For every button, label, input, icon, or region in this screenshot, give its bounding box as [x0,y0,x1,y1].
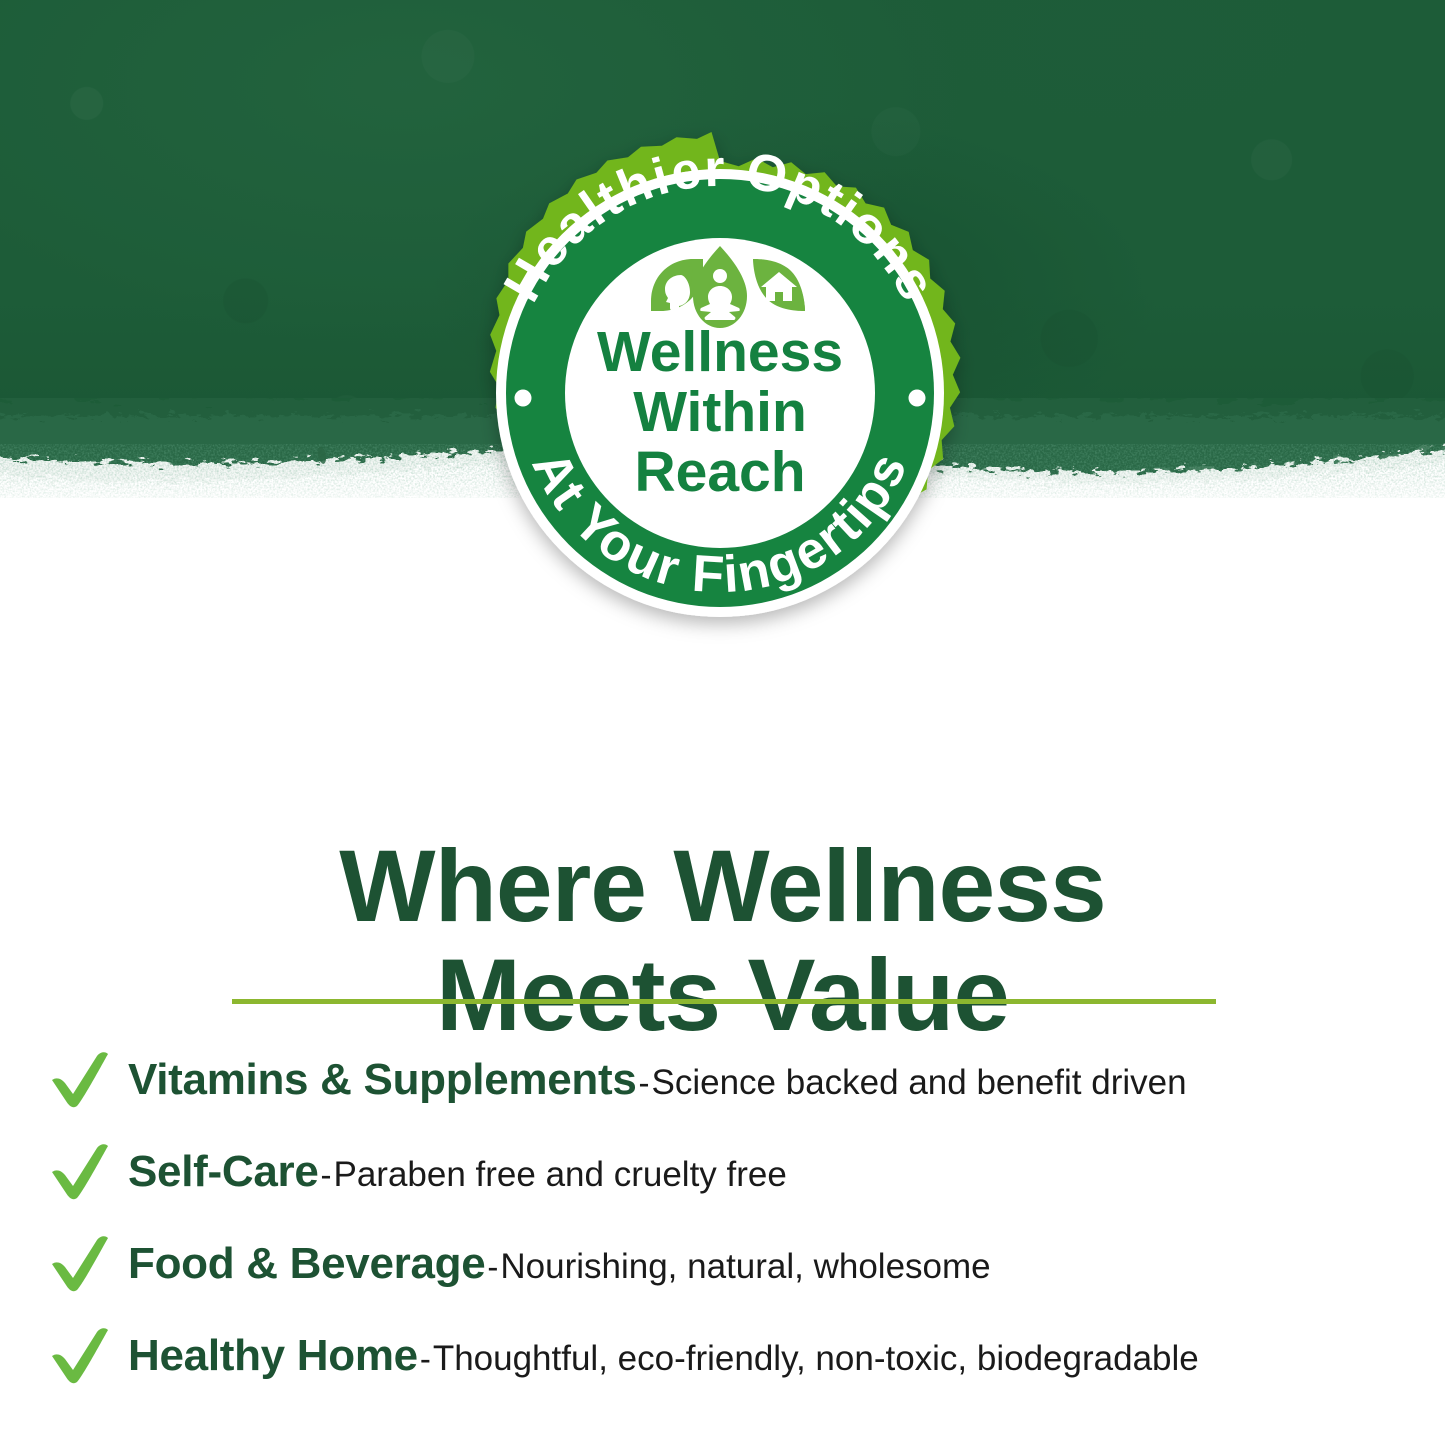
headline-line-1: Where Wellness [0,832,1445,941]
list-item-title: Healthy Home [128,1331,418,1380]
list-item-title: Food & Beverage [128,1239,485,1288]
checkmark-icon [48,1046,112,1110]
category-list: Vitamins & Supplements-Science backed an… [0,1034,1445,1402]
page-title: Where Wellness Meets Value [0,832,1445,1050]
list-item-separator: - [319,1156,334,1193]
wellness-seal-badge: Healthier Options At Your Fingertips [455,126,985,660]
section-divider [232,999,1216,1004]
list-item-description: Thoughtful, eco-friendly, non-toxic, bio… [433,1339,1199,1378]
list-item-text: Healthy Home-Thoughtful, eco-friendly, n… [128,1331,1199,1381]
list-item: Food & Beverage-Nourishing, natural, who… [0,1218,1445,1310]
checkmark-icon [48,1322,112,1386]
promo-banner: Healthier Options At Your Fingertips [0,0,1445,1445]
badge-dot-left [515,390,532,407]
list-item: Self-Care-Paraben free and cruelty free [0,1126,1445,1218]
list-item: Vitamins & Supplements-Science backed an… [0,1034,1445,1126]
badge-center-line-2: Within [633,380,807,444]
list-item-title: Vitamins & Supplements [128,1055,637,1104]
list-item-description: Science backed and benefit driven [652,1063,1187,1102]
list-item: Healthy Home-Thoughtful, eco-friendly, n… [0,1310,1445,1402]
badge-center-line-1: Wellness [597,320,843,384]
list-item-separator: - [637,1064,652,1101]
list-item-text: Self-Care-Paraben free and cruelty free [128,1147,787,1197]
checkmark-icon [48,1138,112,1202]
badge-center-line-3: Reach [634,440,805,504]
list-item-separator: - [418,1340,433,1377]
list-item-description: Nourishing, natural, wholesome [500,1247,990,1286]
list-item-text: Vitamins & Supplements-Science backed an… [128,1055,1187,1105]
list-item-description: Paraben free and cruelty free [334,1155,787,1194]
list-item-title: Self-Care [128,1147,319,1196]
badge-dot-right [909,390,926,407]
list-item-text: Food & Beverage-Nourishing, natural, who… [128,1239,991,1289]
list-item-separator: - [485,1248,500,1285]
checkmark-icon [48,1230,112,1294]
